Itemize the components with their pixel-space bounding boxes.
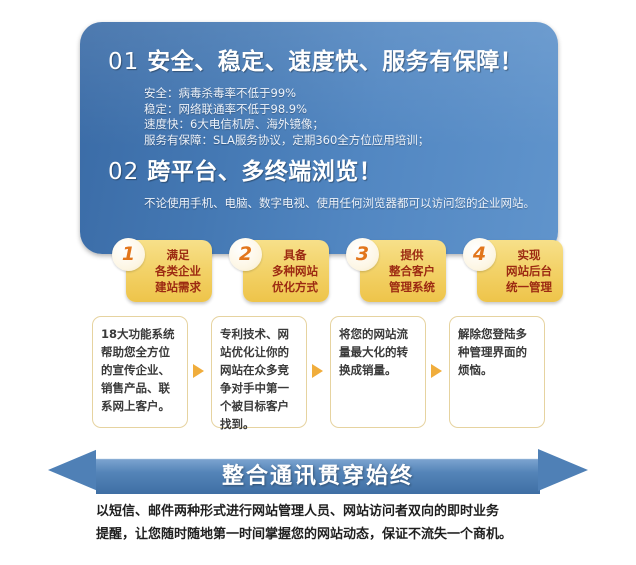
step-badge-line: 实现 — [499, 247, 559, 263]
step-badge-line: 建站需求 — [148, 279, 208, 295]
step-badge-line: 具备 — [265, 247, 325, 263]
step-description-1-text: 18大功能系统帮助您全方位的宣传企业、销售产品、联系网上客户。 — [93, 317, 187, 415]
step-number-1: 1 — [112, 238, 145, 271]
step-description-4-text: 解除您登陆多种管理界面的烦恼。 — [450, 317, 544, 379]
step-badge-line: 统一管理 — [499, 279, 559, 295]
step-badge-1-text: 满足 各类企业 建站需求 — [148, 247, 208, 295]
detail-item: 安全：病毒杀毒率不低于99% — [144, 86, 558, 102]
footer-line-1: 以短信、邮件两种形式进行网站管理人员、网站访问者双向的即时业务 — [96, 500, 566, 523]
step-badge-3-text: 提供 整合客户 管理系统 — [382, 247, 442, 295]
banner-title: 整合通讯贯穿始终 — [96, 446, 540, 494]
feature-section-01-details: 安全：病毒杀毒率不低于99% 稳定：网络联通率不低于98.9% 速度快：6大电信… — [144, 86, 558, 148]
connector-arrow-3-icon — [431, 364, 442, 378]
step-badge-4-text: 实现 网站后台 统一管理 — [499, 247, 559, 295]
feature-section-01-heading: 安全、稳定、速度快、服务有保障！ — [147, 49, 523, 75]
step-badge-line: 整合客户 — [382, 263, 442, 279]
detail-item: 速度快：6大电信机房、海外镜像； — [144, 117, 558, 133]
feature-section-02-details: 不论使用手机、电脑、数字电视、使用任何浏览器都可以访问您的企业网站。 — [144, 196, 558, 212]
step-badge-2-text: 具备 多种网站 优化方式 — [265, 247, 325, 295]
step-badge-line: 满足 — [148, 247, 208, 263]
step-description-4: 解除您登陆多种管理界面的烦恼。 — [449, 316, 545, 428]
summary-banner: 整合通讯贯穿始终 — [48, 446, 588, 494]
step-description-3-text: 将您的网站流量最大化的转换成销量。 — [331, 317, 425, 379]
step-badge-line: 优化方式 — [265, 279, 325, 295]
connector-arrow-1-icon — [193, 364, 204, 378]
feature-section-02-number: 02 — [108, 159, 139, 185]
step-number-4: 4 — [463, 238, 496, 271]
feature-section-01-number: 01 — [108, 49, 139, 75]
feature-section-02: 02跨平台、多终端浏览！ 不论使用手机、电脑、数字电视、使用任何浏览器都可以访问… — [108, 152, 558, 212]
step-badge-1[interactable]: 1 满足 各类企业 建站需求 — [126, 240, 212, 302]
step-badge-3[interactable]: 3 提供 整合客户 管理系统 — [360, 240, 446, 302]
connector-arrow-2-icon — [312, 364, 323, 378]
footer-line-2: 提醒，让您随时随地第一时间掌握您的网站动态，保证不流失一个商机。 — [96, 523, 566, 546]
step-badge-row: 1 满足 各类企业 建站需求 2 具备 多种网站 优化方式 3 提供 整合客户 … — [0, 240, 636, 312]
step-number-3: 3 — [346, 238, 379, 271]
step-badge-line: 各类企业 — [148, 263, 208, 279]
step-description-1: 18大功能系统帮助您全方位的宣传企业、销售产品、联系网上客户。 — [92, 316, 188, 428]
step-badge-2[interactable]: 2 具备 多种网站 优化方式 — [243, 240, 329, 302]
arrow-left-icon — [48, 449, 98, 491]
step-description-3: 将您的网站流量最大化的转换成销量。 — [330, 316, 426, 428]
detail-item: 稳定：网络联通率不低于98.9% — [144, 102, 558, 118]
step-badge-line: 多种网站 — [265, 263, 325, 279]
step-badge-line: 提供 — [382, 247, 442, 263]
step-badge-4[interactable]: 4 实现 网站后台 统一管理 — [477, 240, 563, 302]
step-description-2-text: 专利技术、网站优化让你的网站在众多竞争对手中第一个被目标客户找到。 — [212, 317, 306, 433]
features-panel: 01安全、稳定、速度快、服务有保障！ 安全：病毒杀毒率不低于99% 稳定：网络联… — [80, 22, 558, 254]
arrow-right-icon — [538, 449, 588, 491]
feature-section-01: 01安全、稳定、速度快、服务有保障！ 安全：病毒杀毒率不低于99% 稳定：网络联… — [108, 42, 558, 148]
footer-text: 以短信、邮件两种形式进行网站管理人员、网站访问者双向的即时业务 提醒，让您随时随… — [96, 500, 566, 546]
feature-section-02-heading: 跨平台、多终端浏览！ — [147, 159, 382, 185]
step-badge-line: 网站后台 — [499, 263, 559, 279]
step-badge-line: 管理系统 — [382, 279, 442, 295]
step-description-row: 18大功能系统帮助您全方位的宣传企业、销售产品、联系网上客户。 专利技术、网站优… — [0, 316, 636, 436]
detail-item: 服务有保障：SLA服务协议，定期360全方位应用培训； — [144, 133, 558, 149]
detail-item: 不论使用手机、电脑、数字电视、使用任何浏览器都可以访问您的企业网站。 — [144, 196, 558, 212]
feature-section-02-title: 02跨平台、多终端浏览！ — [108, 152, 558, 186]
step-number-2: 2 — [229, 238, 262, 271]
step-description-2: 专利技术、网站优化让你的网站在众多竞争对手中第一个被目标客户找到。 — [211, 316, 307, 428]
feature-section-01-title: 01安全、稳定、速度快、服务有保障！ — [108, 42, 558, 76]
